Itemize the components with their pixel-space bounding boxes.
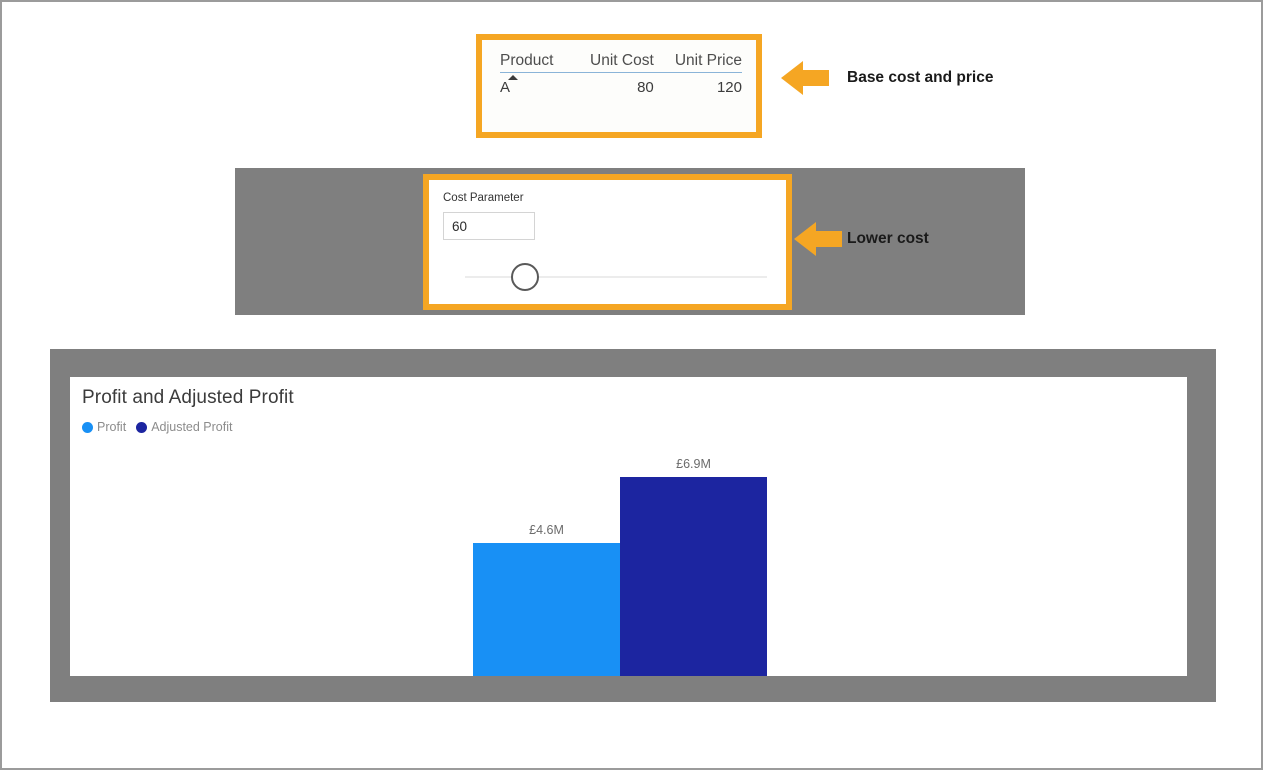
cost-parameter-label: Cost Parameter — [443, 192, 786, 204]
bar-profit[interactable] — [473, 543, 620, 676]
cost-parameter-slider[interactable] — [465, 260, 767, 294]
left-arrow-icon-lower-cost — [794, 222, 816, 256]
column-header-product[interactable]: Product — [500, 52, 570, 73]
cell-unit-price: 120 — [654, 73, 742, 97]
cost-parameter-input[interactable] — [443, 212, 535, 240]
screenshot-canvas: Product Unit Cost Unit Price A 80 120 Ba… — [0, 0, 1263, 770]
column-header-unit-cost[interactable]: Unit Cost — [570, 52, 654, 73]
legend-label-profit: Profit — [97, 420, 126, 434]
profit-chart-card: Profit and Adjusted Profit Profit Adjust… — [70, 377, 1187, 676]
arrow-shaft — [816, 231, 842, 247]
legend-color-dot-adjusted-profit — [136, 422, 147, 433]
table-header-row: Product Unit Cost Unit Price — [500, 52, 742, 73]
table-header: Product Unit Cost Unit Price — [500, 52, 742, 73]
legend-item-profit[interactable]: Profit — [82, 420, 126, 434]
column-header-unit-price[interactable]: Unit Price — [654, 52, 742, 73]
chart-gray-panel: Profit and Adjusted Profit Profit Adjust… — [50, 349, 1216, 702]
legend-label-adjusted-profit: Adjusted Profit — [151, 420, 232, 434]
annotation-label-lower-cost: Lower cost — [847, 230, 929, 248]
annotation-label-base-cost: Base cost and price — [847, 69, 993, 87]
legend-item-adjusted-profit[interactable]: Adjusted Profit — [136, 420, 232, 434]
base-cost-price-table-card: Product Unit Cost Unit Price A 80 120 — [476, 34, 762, 138]
cost-parameter-card: Cost Parameter — [423, 174, 792, 310]
sort-ascending-caret-icon — [508, 75, 518, 80]
product-table: Product Unit Cost Unit Price A 80 120 — [500, 52, 742, 96]
chart-legend: Profit Adjusted Profit — [82, 420, 232, 434]
arrow-shaft — [803, 70, 829, 86]
table-body: A 80 120 — [500, 73, 742, 97]
legend-color-dot-profit — [82, 422, 93, 433]
chart-plot-area: £4.6M £6.9M — [70, 439, 1187, 676]
table-container: Product Unit Cost Unit Price A 80 120 — [482, 40, 756, 132]
bar-adjusted-profit[interactable] — [620, 477, 767, 676]
left-arrow-icon-base-cost — [781, 61, 803, 95]
bar-value-label-adjusted-profit: £6.9M — [676, 457, 711, 471]
cell-unit-cost: 80 — [570, 73, 654, 97]
chart-title: Profit and Adjusted Profit — [82, 387, 294, 409]
bar-value-label-profit: £4.6M — [529, 523, 564, 537]
slider-handle[interactable] — [511, 263, 539, 291]
table-row[interactable]: A 80 120 — [500, 73, 742, 97]
